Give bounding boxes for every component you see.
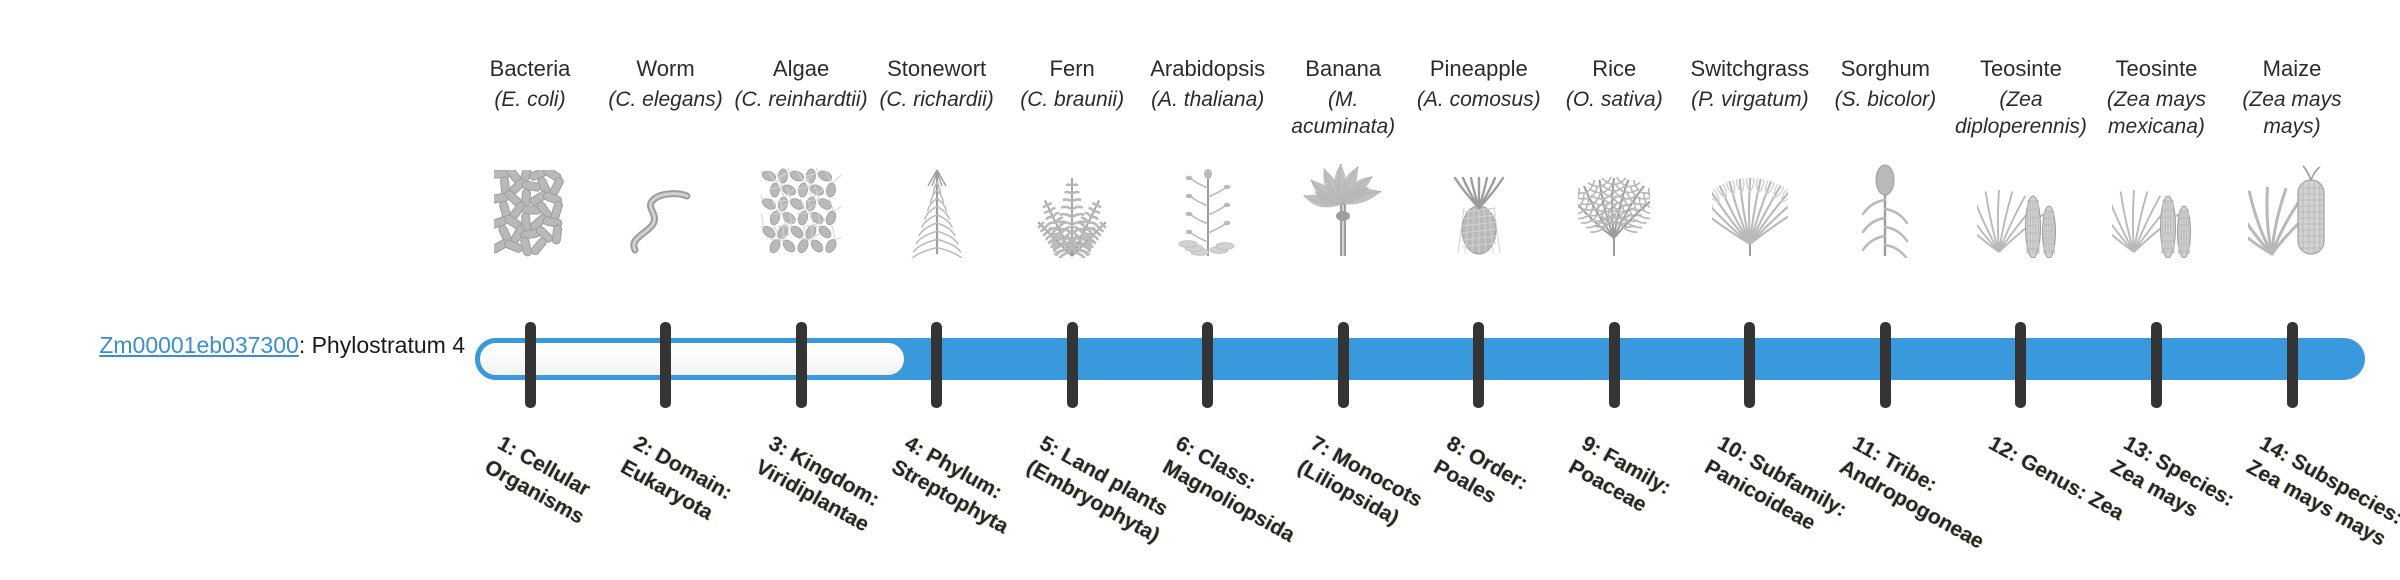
sorghum-icon xyxy=(1817,168,1953,258)
stratum-number: 6: xyxy=(1172,432,1199,461)
species-column-sorghum: Sorghum(S. bicolor) xyxy=(1817,55,1953,113)
stratum-tick-11[interactable] xyxy=(1880,322,1891,408)
stratum-label-13: 13: Species: Zea mays xyxy=(2106,430,2272,555)
species-header-row: Bacteria(E. coli)Worm(C. elegans)Algae(C… xyxy=(0,0,2400,310)
stratum-label-6: 6: Class: Magnoliopsida xyxy=(1158,430,1324,555)
stratum-rank: Genus: xyxy=(2016,449,2090,504)
stratum-tick-9[interactable] xyxy=(1609,322,1620,408)
species-latin-name: (M. acuminata) xyxy=(1275,86,1411,140)
phylostratum-progress-bar[interactable] xyxy=(475,338,2365,380)
stratum-tick-8[interactable] xyxy=(1473,322,1484,408)
stratum-label-1: 1: Cellular Organisms xyxy=(480,430,646,555)
pineapple-icon xyxy=(1411,168,1547,258)
bacteria-icon xyxy=(462,168,598,258)
stratum-tick-12[interactable] xyxy=(2015,322,2026,408)
species-column-teosinte: Teosinte(Zea diploperennis) xyxy=(1953,55,2089,140)
species-common-name: Pineapple xyxy=(1411,55,1547,82)
species-column-teosinte: Teosinte(Zea mays mexicana) xyxy=(2088,55,2224,140)
species-column-worm: Worm(C. elegans) xyxy=(598,55,734,113)
species-column-maize: Maize(Zea mays mays) xyxy=(2224,55,2360,140)
species-common-name: Fern xyxy=(1004,55,1140,82)
phylostratum-timeline: Zm00001eb037300: Phylostratum 4 Bacteria… xyxy=(0,0,2400,580)
species-common-name: Teosinte xyxy=(1953,55,2089,82)
stratum-number: 3: xyxy=(765,432,792,461)
stratum-tick-7[interactable] xyxy=(1338,322,1349,408)
species-common-name: Arabidopsis xyxy=(1140,55,1276,82)
stratum-number: 9: xyxy=(1578,432,1605,461)
stratum-label-4: 4: Phylum: Streptophyta xyxy=(886,430,1052,555)
stratum-label-7: 7: Monocots (Liliopsida) xyxy=(1293,430,1459,555)
progress-bar-unfilled-region xyxy=(475,338,909,380)
stonewort-icon xyxy=(869,168,1005,258)
stratum-number: 1: xyxy=(494,432,521,461)
stratum-label-8: 8: Order: Poales xyxy=(1429,430,1595,555)
species-latin-name: (S. bicolor) xyxy=(1817,86,1953,113)
species-column-arabidopsis: Arabidopsis(A. thaliana) xyxy=(1140,55,1276,113)
stratum-tick-10[interactable] xyxy=(1744,322,1755,408)
fern-icon xyxy=(1004,168,1140,258)
gene-id-link[interactable]: Zm00001eb037300 xyxy=(99,332,299,358)
stratum-label-14: 14: Subspecies: Zea mays mays xyxy=(2242,430,2400,555)
species-latin-name: (C. reinhardtii) xyxy=(733,86,869,113)
stratum-tick-3[interactable] xyxy=(796,322,807,408)
species-latin-name: (Zea mays mays) xyxy=(2224,86,2360,140)
stratum-number: 5: xyxy=(1036,432,1063,461)
species-latin-name: (E. coli) xyxy=(462,86,598,113)
stratum-number: 12: xyxy=(1985,432,2023,467)
switchgrass-icon xyxy=(1682,168,1818,258)
species-column-pineapple: Pineapple(A. comosus) xyxy=(1411,55,1547,113)
banana-icon xyxy=(1275,168,1411,258)
stratum-tick-4[interactable] xyxy=(931,322,942,408)
stratum-number: 2: xyxy=(629,432,656,461)
maize-icon xyxy=(2224,168,2360,258)
stratum-tick-2[interactable] xyxy=(660,322,671,408)
species-latin-name: (Zea mays mexicana) xyxy=(2088,86,2224,140)
stratum-number: 7: xyxy=(1307,432,1334,461)
stratum-tick-1[interactable] xyxy=(525,322,536,408)
algae-icon xyxy=(733,168,869,258)
worm-icon xyxy=(598,168,734,258)
species-column-switchgrass: Switchgrass(P. virgatum) xyxy=(1682,55,1818,113)
species-common-name: Teosinte xyxy=(2088,55,2224,82)
gene-phylostratum-label: Zm00001eb037300: Phylostratum 4 xyxy=(0,332,465,359)
species-latin-name: (P. virgatum) xyxy=(1682,86,1818,113)
teosinte-mex-icon xyxy=(2088,168,2224,258)
species-common-name: Worm xyxy=(598,55,734,82)
species-latin-name: (Zea diploperennis) xyxy=(1953,86,2089,140)
species-latin-name: (C. elegans) xyxy=(598,86,734,113)
teosinte-diplo-icon xyxy=(1953,168,2089,258)
species-column-banana: Banana(M. acuminata) xyxy=(1275,55,1411,140)
stratum-label-5: 5: Land plants (Embryophyta) xyxy=(1022,430,1188,555)
stratum-tick-13[interactable] xyxy=(2151,322,2162,408)
species-common-name: Bacteria xyxy=(462,55,598,82)
species-latin-name: (A. comosus) xyxy=(1411,86,1547,113)
species-latin-name: (C. richardii) xyxy=(869,86,1005,113)
stratum-number: 4: xyxy=(900,432,927,461)
phylostratum-value: Phylostratum 4 xyxy=(312,332,465,358)
species-column-rice: Rice(O. sativa) xyxy=(1546,55,1682,113)
stratum-tick-5[interactable] xyxy=(1067,322,1078,408)
species-common-name: Sorghum xyxy=(1817,55,1953,82)
species-column-stonewort: Stonewort(C. richardii) xyxy=(869,55,1005,113)
stratum-number: 8: xyxy=(1443,432,1470,461)
species-common-name: Rice xyxy=(1546,55,1682,82)
rice-icon xyxy=(1546,168,1682,258)
stratum-label-10: 10: Subfamily: Panicoideae xyxy=(1700,430,1866,555)
species-common-name: Switchgrass xyxy=(1682,55,1818,82)
species-latin-name: (A. thaliana) xyxy=(1140,86,1276,113)
arabidopsis-icon xyxy=(1140,168,1276,258)
species-common-name: Banana xyxy=(1275,55,1411,82)
stratum-label-9: 9: Family: Poaceae xyxy=(1564,430,1730,555)
species-latin-name: (C. braunii) xyxy=(1004,86,1140,113)
stratum-tick-14[interactable] xyxy=(2287,322,2298,408)
stratum-label-3: 3: Kingdom: Viridiplantae xyxy=(751,430,917,555)
species-common-name: Stonewort xyxy=(869,55,1005,82)
stratum-label-11: 11: Tribe: Andropogoneae xyxy=(1835,430,2001,555)
species-common-name: Algae xyxy=(733,55,869,82)
stratum-name: Zea xyxy=(2085,487,2128,525)
species-column-bacteria: Bacteria(E. coli) xyxy=(462,55,598,113)
species-column-fern: Fern(C. braunii) xyxy=(1004,55,1140,113)
species-latin-name: (O. sativa) xyxy=(1546,86,1682,113)
stratum-label-2: 2: Domain: Eukaryota xyxy=(615,430,781,555)
species-common-name: Maize xyxy=(2224,55,2360,82)
gene-label-separator: : xyxy=(299,332,312,358)
species-column-algae: Algae(C. reinhardtii) xyxy=(733,55,869,113)
stratum-tick-6[interactable] xyxy=(1202,322,1213,408)
